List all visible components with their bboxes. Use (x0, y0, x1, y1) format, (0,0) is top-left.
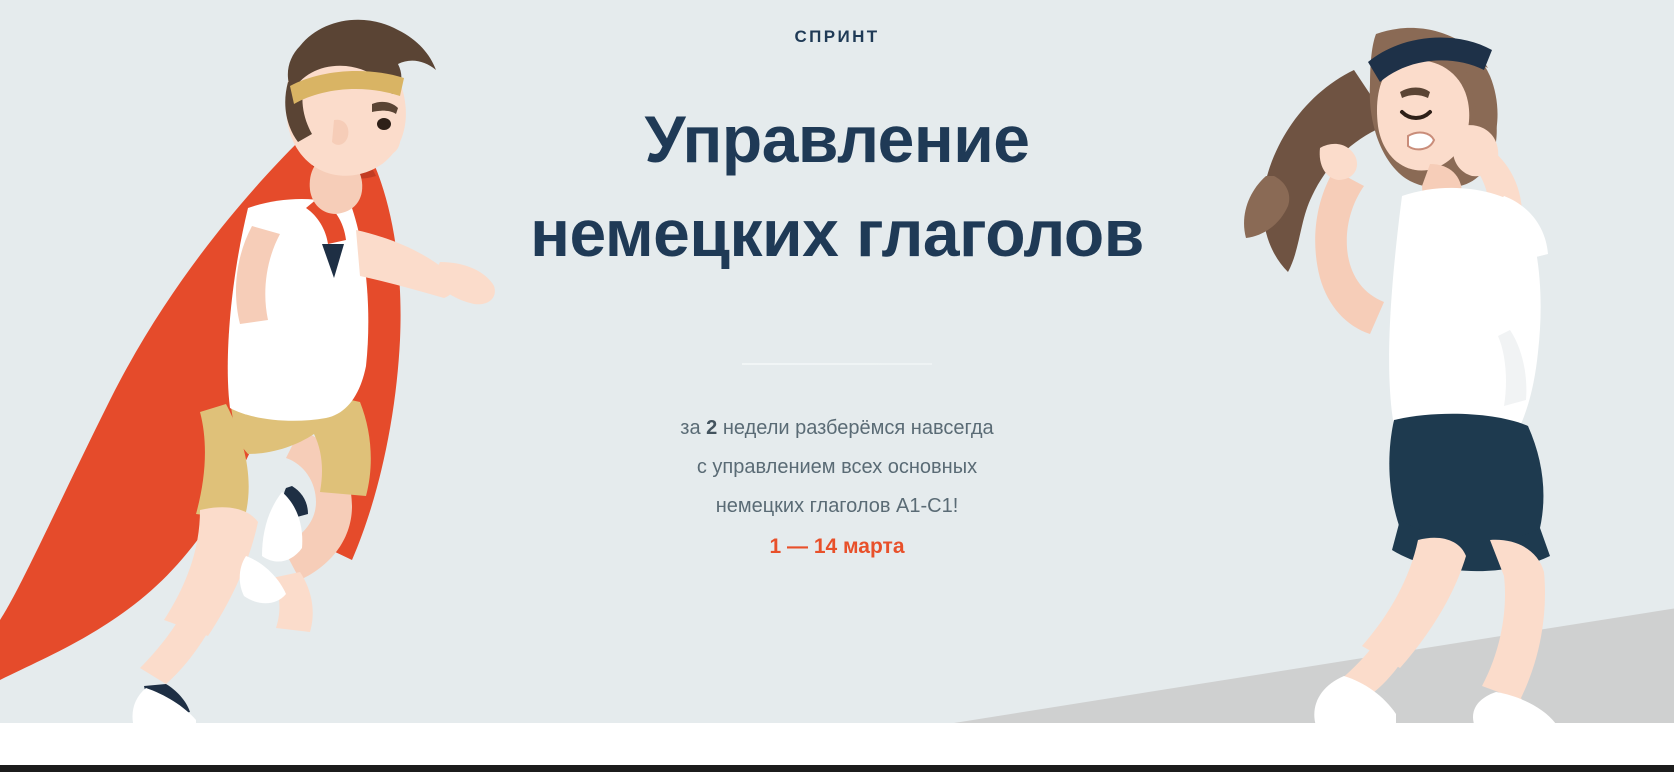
eye-shape (377, 118, 391, 130)
illustration-superhero-runner (0, 0, 520, 723)
lede-line-2: с управлением всех основных (680, 448, 993, 487)
lede-line-1-after: недели разберёмся навсегда (717, 417, 993, 439)
page-title: Управление немецких глаголов (530, 93, 1144, 280)
forward-hand (432, 262, 495, 304)
lede-weeks-number: 2 (706, 417, 717, 439)
hero-description: за 2 недели разберёмся навсегда с управл… (680, 409, 993, 526)
title-line-1: Управление (644, 102, 1029, 176)
course-dates: 1 — 14 марта (770, 530, 905, 564)
lede-line-3: немецких глаголов A1-C1! (680, 487, 993, 526)
hero-section: СПРИНТ Управление немецких глаголов за 2… (0, 0, 1674, 723)
eyebrow-label: СПРИНТ (794, 28, 879, 45)
content-below-hero (0, 723, 1674, 765)
far-hand (1320, 144, 1357, 180)
illustration-running-woman (1204, 0, 1674, 723)
title-divider (742, 363, 932, 365)
page-root: СПРИНТ Управление немецких глаголов за 2… (0, 0, 1674, 772)
lede-line-1-before: за (680, 417, 706, 439)
title-line-2: немецких глаголов (530, 187, 1144, 281)
far-arm (1315, 170, 1384, 334)
horizontal-scrollbar[interactable] (0, 765, 1674, 772)
lede-line-1: за 2 недели разберёмся навсегда (680, 409, 993, 448)
